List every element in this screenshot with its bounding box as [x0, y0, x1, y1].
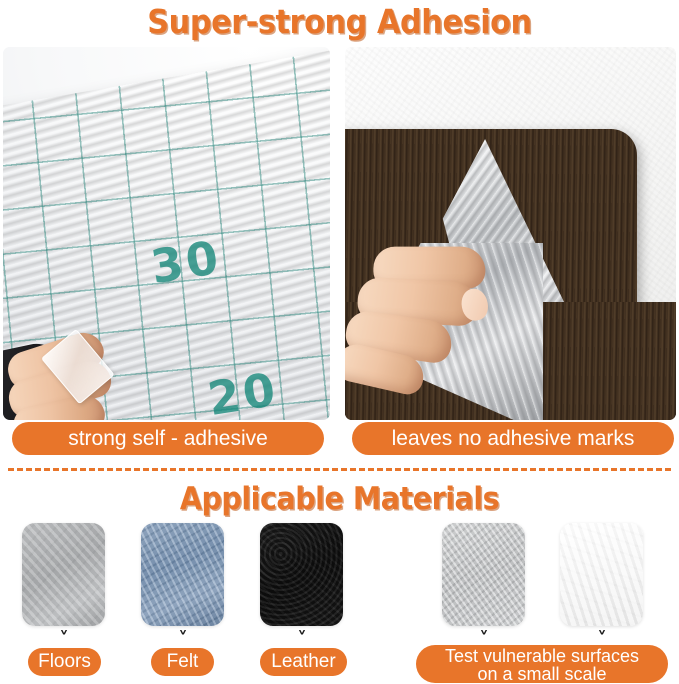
- caption-strong-self-adhesive: strong self - adhesive: [12, 422, 324, 455]
- chevron-down-icon: ˅: [174, 634, 192, 645]
- chevron-down-icon: ˅: [593, 634, 611, 645]
- material-label-test-vulnerable-surfaces: Test vulnerable surfaces on a small scal…: [416, 645, 668, 683]
- swatch-felt: [141, 523, 224, 626]
- foil-marking-20: 20: [204, 362, 282, 420]
- chevron-down-icon: ˅: [55, 634, 73, 645]
- material-label-floors: Floors: [28, 648, 101, 676]
- photo-strong-self-adhesive: 30 20: [3, 47, 330, 420]
- chevron-down-icon: ˅: [475, 634, 493, 645]
- chevron-down-icon: ˅: [293, 634, 311, 645]
- caption-leaves-no-adhesive-marks: leaves no adhesive marks: [352, 422, 674, 455]
- test-label-line1: Test vulnerable surfaces: [416, 647, 668, 665]
- materials-section-title: Applicable Materials: [27, 480, 652, 518]
- test-label-line2: on a small scale: [416, 665, 668, 683]
- foil-marking-30: 30: [147, 230, 225, 294]
- swatch-plaster: [560, 523, 643, 626]
- material-label-leather: Leather: [260, 648, 347, 676]
- hand-lifting-carpet: [345, 238, 489, 417]
- dashed-divider: [8, 468, 671, 471]
- photo-leaves-no-adhesive-marks: [345, 47, 676, 420]
- swatch-stucco: [442, 523, 525, 626]
- swatch-floors: [22, 523, 105, 626]
- material-label-felt: Felt: [151, 648, 214, 676]
- swatch-leather: [260, 523, 343, 626]
- page-title: Super-strong Adhesion: [27, 2, 652, 42]
